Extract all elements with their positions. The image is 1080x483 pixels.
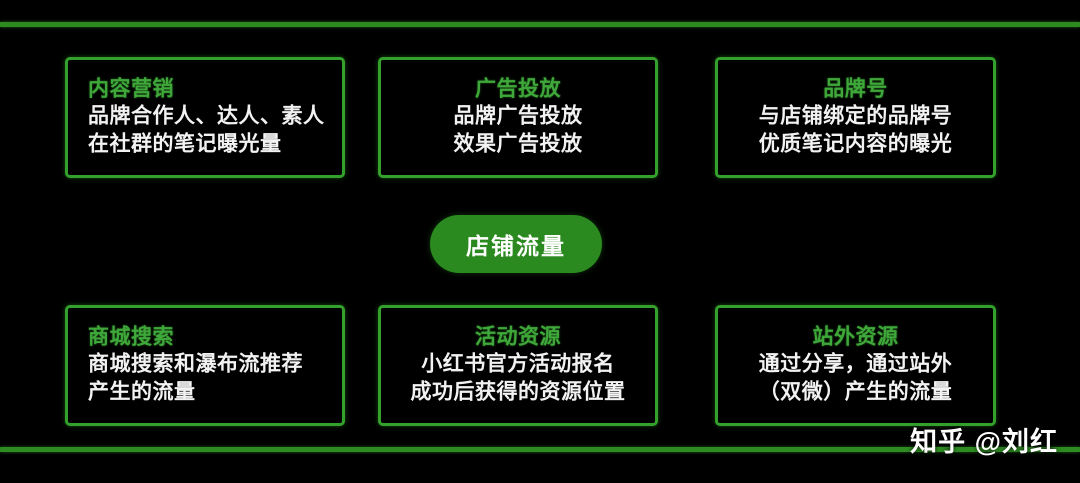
top-divider-rule xyxy=(0,22,1080,27)
card-brand-account-line-1: 与店铺绑定的品牌号 xyxy=(732,103,979,131)
card-ad-placement-title: 广告投放 xyxy=(395,76,641,103)
watermark-zhihu-author: 知乎 @刘红 xyxy=(910,420,1058,459)
card-mall-search-body: 商城搜索 商城搜索和瀑布流推荐 产生的流量 xyxy=(68,324,342,407)
card-content-marketing-title: 内容营销 xyxy=(88,76,328,103)
card-mall-search-title: 商城搜索 xyxy=(88,324,328,351)
card-campaign-resource-line-2: 成功后获得的资源位置 xyxy=(395,379,641,407)
card-content-marketing-line-2: 在社群的笔记曝光量 xyxy=(88,131,328,159)
card-offsite-resource-body: 站外资源 通过分享，通过站外 （双微）产生的流量 xyxy=(718,324,993,407)
center-node-shop-traffic[interactable]: 店铺流量 xyxy=(430,215,602,273)
card-ad-placement-line-1: 品牌广告投放 xyxy=(395,103,641,131)
card-mall-search-line-1: 商城搜索和瀑布流推荐 xyxy=(88,351,328,379)
card-offsite-resource[interactable]: 站外资源 通过分享，通过站外 （双微）产生的流量 xyxy=(715,305,996,426)
card-brand-account-body: 品牌号 与店铺绑定的品牌号 优质笔记内容的曝光 xyxy=(718,76,993,159)
card-brand-account-title: 品牌号 xyxy=(732,76,979,103)
card-brand-account[interactable]: 品牌号 与店铺绑定的品牌号 优质笔记内容的曝光 xyxy=(715,57,996,178)
card-mall-search-line-2: 产生的流量 xyxy=(88,379,328,407)
card-offsite-resource-title: 站外资源 xyxy=(732,324,979,351)
center-node-label: 店铺流量 xyxy=(466,227,566,261)
card-content-marketing[interactable]: 内容营销 品牌合作人、达人、素人 在社群的笔记曝光量 xyxy=(65,57,345,178)
card-ad-placement-line-2: 效果广告投放 xyxy=(395,131,641,159)
card-content-marketing-body: 内容营销 品牌合作人、达人、素人 在社群的笔记曝光量 xyxy=(68,76,342,159)
card-campaign-resource-body: 活动资源 小红书官方活动报名 成功后获得的资源位置 xyxy=(381,324,655,407)
card-mall-search[interactable]: 商城搜索 商城搜索和瀑布流推荐 产生的流量 xyxy=(65,305,345,426)
card-campaign-resource-title: 活动资源 xyxy=(395,324,641,351)
card-brand-account-line-2: 优质笔记内容的曝光 xyxy=(732,131,979,159)
diagram-canvas: 内容营销 品牌合作人、达人、素人 在社群的笔记曝光量 广告投放 品牌广告投放 效… xyxy=(0,0,1080,483)
card-ad-placement-body: 广告投放 品牌广告投放 效果广告投放 xyxy=(381,76,655,159)
card-campaign-resource[interactable]: 活动资源 小红书官方活动报名 成功后获得的资源位置 xyxy=(378,305,658,426)
card-campaign-resource-line-1: 小红书官方活动报名 xyxy=(395,351,641,379)
card-ad-placement[interactable]: 广告投放 品牌广告投放 效果广告投放 xyxy=(378,57,658,178)
card-offsite-resource-line-1: 通过分享，通过站外 xyxy=(732,351,979,379)
card-content-marketing-line-1: 品牌合作人、达人、素人 xyxy=(88,103,328,131)
card-offsite-resource-line-2: （双微）产生的流量 xyxy=(732,379,979,407)
